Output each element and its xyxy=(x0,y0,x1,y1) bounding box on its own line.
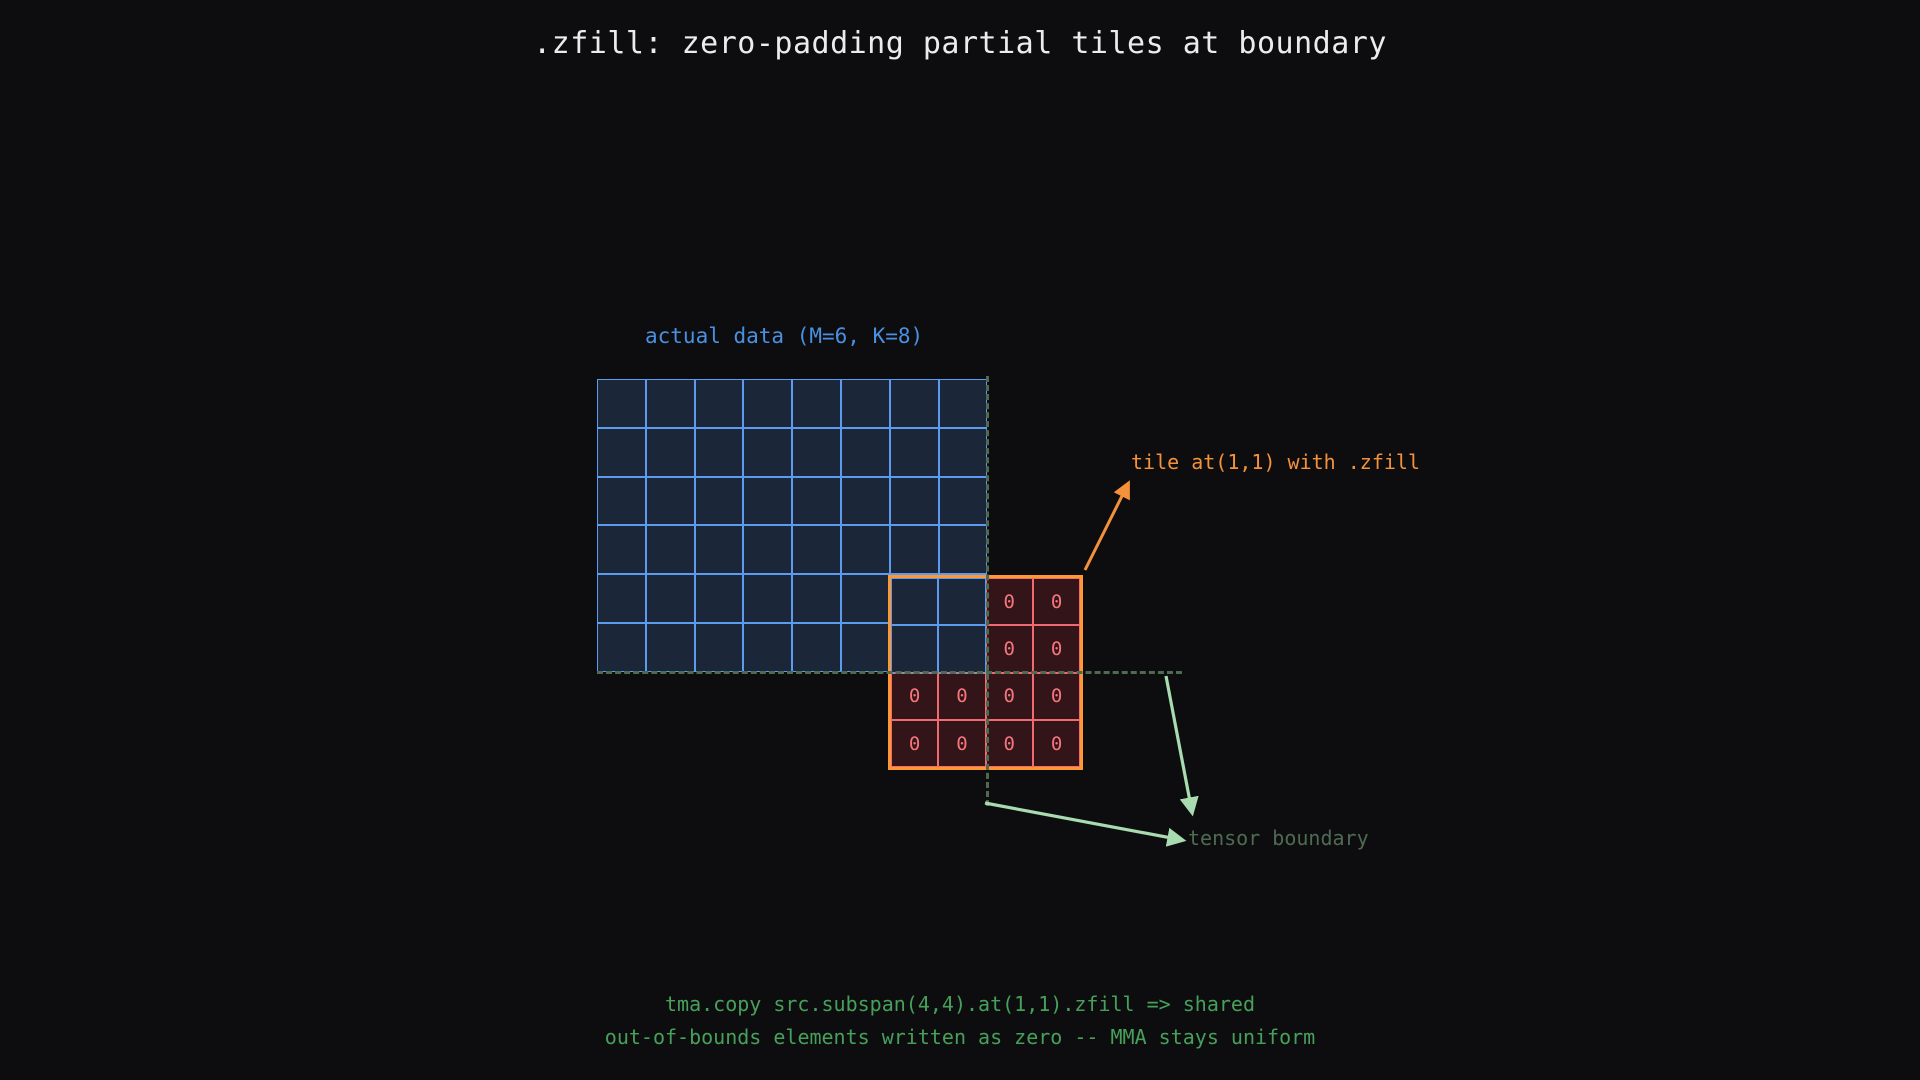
data-cell xyxy=(695,525,744,574)
data-cell xyxy=(841,379,890,428)
tile-cell-zero: 0 xyxy=(986,578,1033,625)
caption-block: tma.copy src.subspan(4,4).at(1,1).zfill … xyxy=(0,988,1920,1054)
data-cell xyxy=(890,525,939,574)
tile-cell-zero: 0 xyxy=(938,673,985,720)
data-cell xyxy=(597,477,646,526)
data-cell xyxy=(792,525,841,574)
data-cell xyxy=(939,379,988,428)
tile-cell-zero: 0 xyxy=(1033,720,1080,767)
data-cell xyxy=(597,379,646,428)
data-cell xyxy=(890,428,939,477)
data-cell xyxy=(792,428,841,477)
tensor-boundary-horizontal-line xyxy=(597,671,1182,674)
data-cell xyxy=(792,574,841,623)
tile-cell-zero: 0 xyxy=(986,625,1033,672)
tile-cell-zero: 0 xyxy=(1033,673,1080,720)
page-title: .zfill: zero-padding partial tiles at bo… xyxy=(0,26,1920,61)
data-cell xyxy=(890,379,939,428)
data-cell xyxy=(597,623,646,672)
data-cell xyxy=(939,477,988,526)
boundary-callout-arrow-right xyxy=(1166,676,1192,812)
data-cell xyxy=(743,379,792,428)
data-cell xyxy=(646,428,695,477)
data-cell xyxy=(939,428,988,477)
boundary-callout-arrow-left xyxy=(985,803,1182,840)
data-cell xyxy=(841,428,890,477)
tile-cell-zero: 0 xyxy=(986,673,1033,720)
tile-annotation-label: tile at(1,1) with .zfill xyxy=(1131,450,1420,474)
data-cell xyxy=(743,623,792,672)
data-cell xyxy=(792,477,841,526)
tensor-boundary-label: tensor boundary xyxy=(1188,826,1369,850)
data-cell xyxy=(597,428,646,477)
tile-cell-zero: 0 xyxy=(938,720,985,767)
data-cell xyxy=(841,574,890,623)
data-cell xyxy=(792,379,841,428)
data-cell xyxy=(743,428,792,477)
data-cell xyxy=(890,477,939,526)
tile-cell-zero: 0 xyxy=(891,673,938,720)
tile-cell-data xyxy=(891,625,938,672)
data-cell xyxy=(695,574,744,623)
caption-line-2: out-of-bounds elements written as zero -… xyxy=(0,1021,1920,1054)
data-cell xyxy=(646,623,695,672)
data-cell xyxy=(646,574,695,623)
data-cell xyxy=(743,525,792,574)
data-cell xyxy=(695,428,744,477)
data-cell xyxy=(597,525,646,574)
data-cell xyxy=(695,379,744,428)
data-cell xyxy=(646,477,695,526)
data-cell xyxy=(743,574,792,623)
data-cell xyxy=(695,623,744,672)
data-cell xyxy=(792,623,841,672)
caption-line-1: tma.copy src.subspan(4,4).at(1,1).zfill … xyxy=(0,988,1920,1021)
tile-cell-zero: 0 xyxy=(891,720,938,767)
tile-cell-data xyxy=(891,578,938,625)
data-cell xyxy=(597,574,646,623)
tile-cell-data xyxy=(938,625,985,672)
tile-cell-zero: 0 xyxy=(986,720,1033,767)
tile-cell-zero: 0 xyxy=(1033,578,1080,625)
diagram-canvas: .zfill: zero-padding partial tiles at bo… xyxy=(0,0,1920,1080)
data-cell xyxy=(939,525,988,574)
data-cell xyxy=(743,477,792,526)
data-cell xyxy=(695,477,744,526)
tile-cell-data xyxy=(938,578,985,625)
data-grid-label: actual data (M=6, K=8) xyxy=(645,324,923,348)
tile-callout-arrow xyxy=(1085,484,1128,570)
tile-cell-zero: 0 xyxy=(1033,625,1080,672)
data-cell xyxy=(646,525,695,574)
data-cell xyxy=(841,623,890,672)
tensor-boundary-vertical-line xyxy=(986,376,989,806)
data-cell xyxy=(841,477,890,526)
data-cell xyxy=(646,379,695,428)
data-cell xyxy=(841,525,890,574)
